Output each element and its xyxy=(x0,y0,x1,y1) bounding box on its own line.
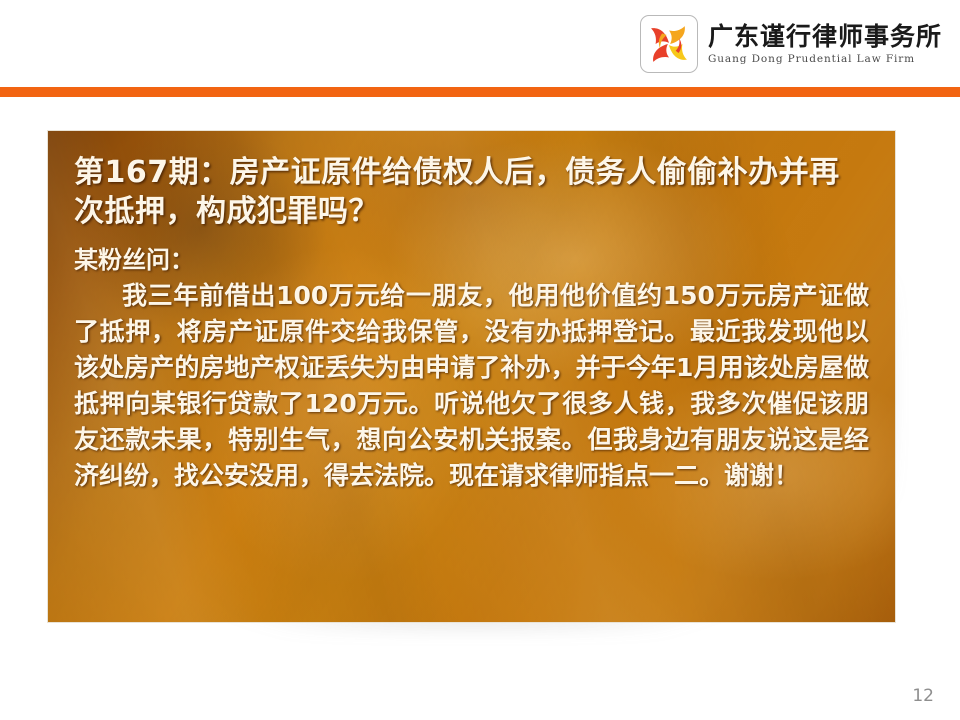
card-content: 第167期：房产证原件给债权人后，债务人偷偷补办并再次抵押，构成犯罪吗？ 某粉丝… xyxy=(48,131,895,622)
content-card-wrapper: 第167期：房产证原件给债权人后，债务人偷偷补办并再次抵押，构成犯罪吗？ 某粉丝… xyxy=(47,130,896,623)
brand-text: 广东谨行律师事务所 Guang Dong Prudential Law Firm xyxy=(708,24,942,65)
page-number: 12 xyxy=(912,686,934,706)
orange-accent-bar xyxy=(0,87,960,97)
brand-name-en: Guang Dong Prudential Law Firm xyxy=(708,54,942,65)
asker-label: 某粉丝问： xyxy=(74,245,869,276)
content-card: 第167期：房产证原件给债权人后，债务人偷偷补办并再次抵押，构成犯罪吗？ 某粉丝… xyxy=(47,130,896,623)
pinwheel-logo-icon xyxy=(640,15,698,73)
slide-root: 广东谨行律师事务所 Guang Dong Prudential Law Firm… xyxy=(0,0,960,720)
question-body: 我三年前借出100万元给一朋友，他用他价值约150万元房产证做了抵押，将房产证原… xyxy=(74,278,869,494)
slide-header: 广东谨行律师事务所 Guang Dong Prudential Law Firm xyxy=(0,0,960,97)
slide-title: 第167期：房产证原件给债权人后，债务人偷偷补办并再次抵押，构成犯罪吗？ xyxy=(74,153,869,231)
brand-name-cn: 广东谨行律师事务所 xyxy=(708,24,942,49)
brand-lockup: 广东谨行律师事务所 Guang Dong Prudential Law Firm xyxy=(640,12,942,76)
